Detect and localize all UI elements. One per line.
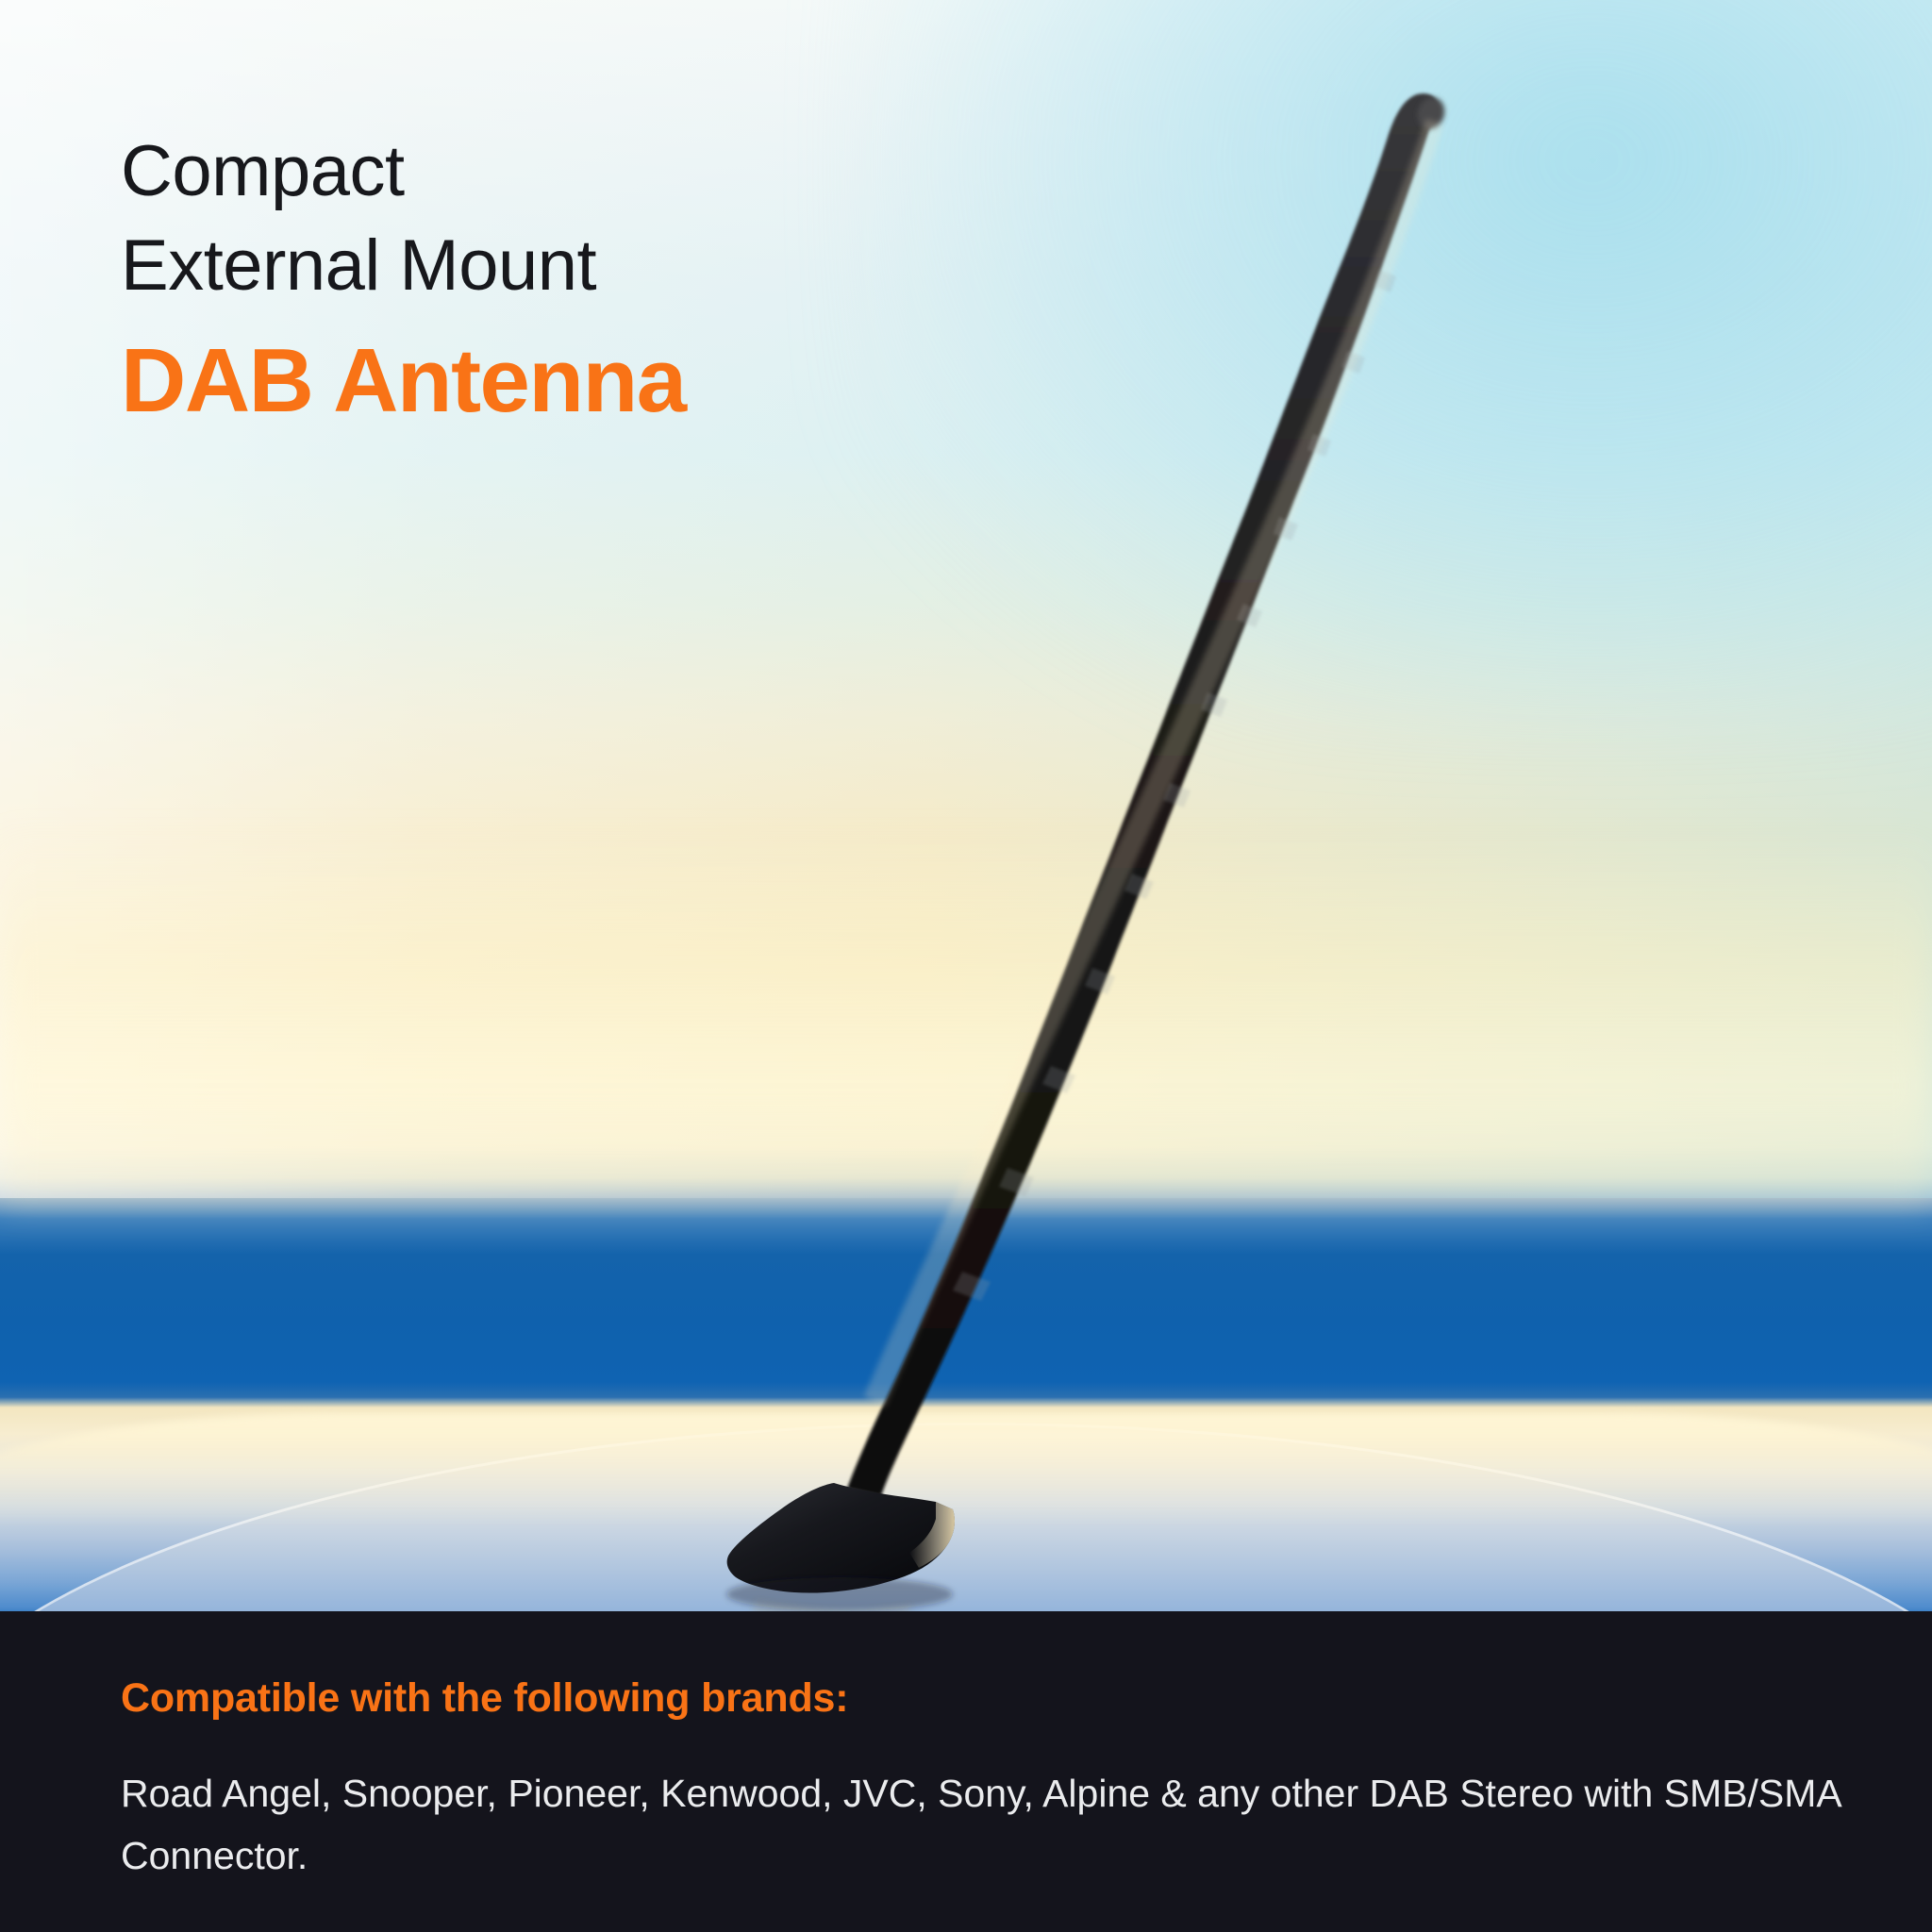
headline-line-2: External Mount [121,219,1158,313]
headline-block: Compact External Mount DAB Antenna [121,125,1158,434]
compatibility-banner-title: Compatible with the following brands: [121,1675,1847,1722]
horizon-haze [0,830,1932,1207]
headline-line-1: Compact [121,125,1158,219]
headline-product-name: DAB Antenna [121,327,1158,434]
product-poster: Compact External Mount DAB Antenna Compa… [0,0,1932,1932]
compatibility-banner: Compatible with the following brands: Ro… [0,1611,1932,1932]
car-roof-specular-highlight [0,1413,1932,1526]
compatibility-banner-content: Compatible with the following brands: Ro… [121,1675,1847,1887]
compatibility-banner-body: Road Angel, Snooper, Pioneer, Kenwood, J… [121,1763,1847,1887]
